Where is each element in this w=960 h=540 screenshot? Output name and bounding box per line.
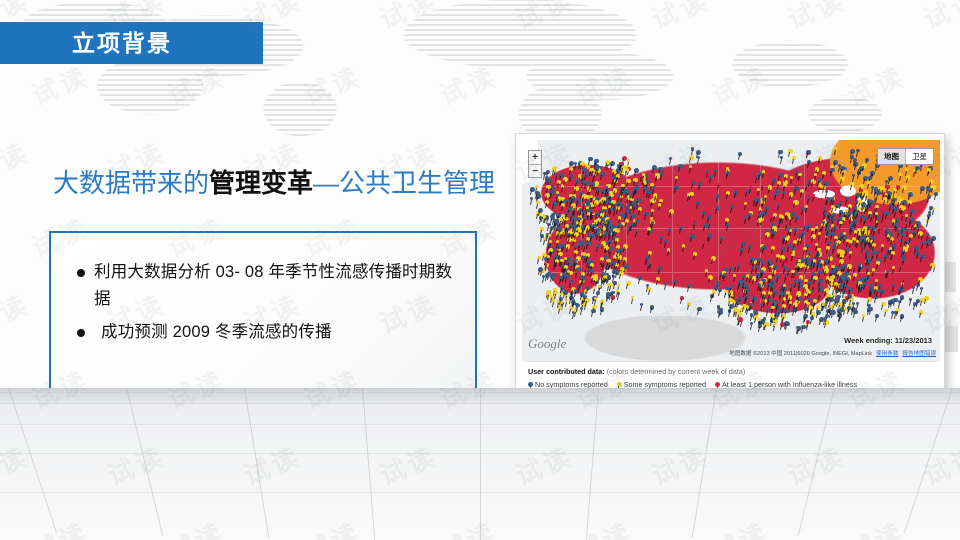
map-pin-icon <box>804 314 808 318</box>
map-pin-icon <box>742 280 746 284</box>
map-pin-icon <box>830 168 835 173</box>
map-pin-icon <box>764 322 769 327</box>
map-pin-icon <box>908 200 912 204</box>
map-pin-icon <box>797 326 802 331</box>
map-pin-icon <box>927 195 931 199</box>
map-pin-icon <box>852 302 856 306</box>
map-pin-icon <box>691 147 694 150</box>
map-pin-icon <box>931 236 936 241</box>
map-pin-icon <box>550 190 554 194</box>
map-pin-icon <box>862 163 867 168</box>
map-pin-icon <box>780 156 783 159</box>
map-pin-icon <box>902 200 907 205</box>
map-pin-icon <box>744 202 747 205</box>
map-pin-icon <box>645 256 649 260</box>
map-pin-icon <box>848 204 852 208</box>
map-pin-icon <box>886 185 890 189</box>
map-pin-icon <box>763 295 767 299</box>
map-pin-icon <box>566 244 571 249</box>
map-pin-icon <box>807 290 812 295</box>
map-pin-icon <box>796 292 801 297</box>
map-pin-icon <box>668 228 671 231</box>
map-pin-icon <box>868 176 873 181</box>
map-pin-icon <box>833 160 838 165</box>
map-pin-icon <box>760 270 764 274</box>
map-pin-icon <box>549 240 552 243</box>
map-pin-icon <box>803 247 806 250</box>
map-pin-icon <box>649 261 653 265</box>
map-pin-icon <box>571 196 575 200</box>
map-pin-icon <box>644 212 649 217</box>
map-pin-icon <box>848 287 853 292</box>
map-pin-icon <box>561 203 565 207</box>
map-pin-icon <box>594 200 599 205</box>
map-pin-icon <box>818 232 821 235</box>
map-pin-icon <box>617 284 620 287</box>
map-pin-icon <box>824 259 828 263</box>
map-pin-icon <box>792 156 796 160</box>
map-pin-icon <box>725 218 729 222</box>
zoom-out-icon[interactable]: − <box>529 165 541 178</box>
map-pin-icon <box>600 217 605 222</box>
map-pin-icon <box>594 159 599 164</box>
map-pin-icon <box>605 160 610 165</box>
map-pin-icon <box>610 161 615 166</box>
map-pin-icon <box>830 232 835 237</box>
bullet-text: 利用大数据分析 03- 08 年季节性流感传播时期数据 <box>94 259 459 312</box>
map-pin-icon <box>847 306 851 310</box>
map-pin-icon <box>897 199 901 203</box>
bullet-dot-icon <box>77 329 85 337</box>
map-pin-icon <box>601 223 604 226</box>
map-pin-icon <box>689 155 694 160</box>
map-pin-icon <box>919 310 924 315</box>
map-pin-icon <box>843 236 846 239</box>
map-pin-icon <box>745 305 749 309</box>
map-pin-icon <box>607 219 611 223</box>
map-pin-icon <box>696 201 700 205</box>
map-pin-icon <box>783 266 787 270</box>
legend-divider <box>526 361 936 362</box>
map-pin-icon <box>918 277 923 282</box>
map-pin-icon <box>826 246 830 250</box>
map-pin-icon <box>758 324 762 328</box>
map-pin-icon <box>782 314 786 318</box>
map-pin-icon <box>578 217 581 220</box>
map-pin-icon <box>788 295 792 299</box>
map-pin-icon <box>547 223 550 226</box>
map-pin-icon <box>894 222 899 227</box>
map-pin-icon <box>852 174 855 177</box>
map-pin-icon <box>594 297 598 301</box>
map-pin-icon <box>569 167 573 171</box>
map-pin-icon <box>844 284 848 288</box>
map-pin-icon <box>894 209 898 213</box>
map-pin-icon <box>794 186 799 191</box>
map-pin-icon <box>634 168 639 173</box>
map-pin-icon <box>807 160 811 164</box>
map-pin-icon <box>825 301 828 304</box>
map-zoom-controls[interactable]: + − <box>528 150 542 178</box>
map-pin-icon <box>540 227 544 231</box>
map-pin-icon <box>916 299 920 303</box>
map-pin-icon <box>600 172 605 177</box>
floor-grid-line <box>362 388 375 540</box>
map-pin-icon <box>588 157 593 162</box>
map-pin-icon <box>617 201 622 206</box>
map-pin-icon <box>876 261 880 265</box>
map-pin-icon <box>528 382 533 387</box>
map-pin-icon <box>554 291 559 296</box>
map-pin-icon <box>559 218 562 221</box>
map-pin-icon <box>634 186 639 191</box>
map-pin-icon <box>875 205 879 209</box>
map-pin-icon <box>867 272 870 275</box>
map-pin-icon <box>553 220 556 223</box>
map-pin-icon <box>744 216 747 219</box>
map-pin-icon <box>857 207 861 211</box>
terms-link[interactable]: 使用条款 <box>876 351 898 357</box>
map-pin-icon <box>715 382 720 387</box>
heading-part-3: —公共卫生管理 <box>313 168 495 198</box>
map-pin-icon <box>912 286 915 289</box>
map-pin-icon <box>853 219 857 223</box>
map-pin-icon <box>552 299 555 302</box>
map-pin-icon <box>537 256 541 260</box>
map-pin-icon <box>920 287 924 291</box>
map-pin-icon <box>850 149 855 154</box>
map-pin-icon <box>761 261 765 265</box>
map-pin-icon <box>638 207 642 211</box>
map-pin-icon <box>573 208 576 211</box>
map-pin-icon <box>749 275 752 278</box>
map-pin-icon <box>782 191 786 195</box>
map-pin-icon <box>734 190 739 195</box>
map-pin-icon <box>892 284 895 287</box>
map-pin-icon <box>744 284 748 288</box>
map-pin-icon <box>847 264 852 269</box>
map-pin-icon <box>560 259 564 263</box>
map-pin-icon <box>609 193 614 198</box>
map-pin-icon <box>745 289 749 293</box>
bullet-box: 利用大数据分析 03- 08 年季节性流感传播时期数据 成功预测 2009 冬季… <box>49 231 477 399</box>
map-pin-icon <box>749 186 754 191</box>
map-pin-icon <box>585 298 590 303</box>
map-pin-icon <box>798 173 802 177</box>
map-pin-icon <box>572 299 575 302</box>
map-pin-icon <box>652 165 657 170</box>
map-pin-icon <box>875 279 879 283</box>
map-pin-icon <box>578 243 582 247</box>
map-pin-icon <box>900 314 905 319</box>
map-pin-icon <box>660 236 663 239</box>
map-pin-icon <box>652 186 655 189</box>
map-pin-icon <box>591 182 595 186</box>
map-pin-icon <box>601 241 606 246</box>
google-flu-trends-map[interactable]: + − 地图 卫星 Week ending: 11/23/2013 Google… <box>522 140 940 361</box>
map-pin-icon <box>536 201 539 204</box>
map-pin-icon <box>903 247 908 252</box>
map-pin-icon <box>636 198 641 203</box>
map-pin-icon <box>635 229 639 233</box>
map-pin-icon <box>892 266 896 270</box>
map-pin-icon <box>926 233 929 236</box>
map-pin-icon <box>706 170 710 174</box>
map-pin-icon <box>798 279 803 284</box>
zoom-in-icon[interactable]: + <box>529 151 541 165</box>
map-pin-icon <box>705 269 709 273</box>
map-pin-icon <box>611 291 615 295</box>
map-pin-icon <box>834 236 837 239</box>
map-pin-icon <box>530 197 533 200</box>
map-pin-icon <box>726 171 731 176</box>
map-pin-icon <box>687 302 691 306</box>
map-pin-icon <box>896 308 900 312</box>
map-pin-icon <box>794 228 797 231</box>
map-pin-icon <box>565 224 569 228</box>
bullet-text: 成功预测 2009 冬季流感的传播 <box>94 319 332 346</box>
map-pin-icon <box>691 181 695 185</box>
map-pin-icon <box>777 203 780 206</box>
map-pin-icon <box>555 173 559 177</box>
map-pin-icon <box>597 188 600 191</box>
map-pin-icon <box>826 219 829 222</box>
heading-part-2: 管理变革 <box>209 168 313 198</box>
map-pin-icon <box>871 253 874 256</box>
map-pin-icon <box>539 216 542 219</box>
page-title: 大数据带来的管理变革—公共卫生管理 <box>53 170 495 196</box>
map-pin-icon <box>581 276 586 281</box>
map-pin-icon <box>586 200 591 205</box>
map-pin-icon <box>878 226 883 231</box>
map-pin-icon <box>659 199 663 203</box>
map-pin-icon <box>835 203 840 208</box>
map-pin-icon <box>772 300 775 303</box>
map-pin-icon <box>638 276 643 281</box>
map-pin-icon <box>565 274 570 279</box>
map-pin-icon <box>834 147 838 151</box>
map-pin-icon <box>740 248 744 252</box>
map-pin-icon <box>914 246 918 250</box>
map-pin-icon <box>708 275 713 280</box>
map-pin-icon <box>646 179 651 184</box>
map-pin-icon <box>633 178 638 183</box>
map-pin-icon <box>785 237 789 241</box>
map-pin-icon <box>606 294 611 299</box>
map-pin-icon <box>584 222 588 226</box>
map-pin-icon <box>586 286 590 290</box>
map-pin-icon <box>887 191 891 195</box>
map-pin-icon <box>693 218 696 221</box>
map-pin-icon <box>651 209 654 212</box>
map-pin-icon <box>569 280 572 283</box>
map-pin-icon <box>867 307 872 312</box>
map-pin-icon <box>906 229 910 233</box>
map-pin-icon <box>927 214 930 217</box>
slide-title-text: 立项背景 <box>72 32 172 55</box>
map-pin-icon <box>669 157 672 160</box>
map-pin-icon <box>626 190 631 195</box>
map-pin-icon <box>558 252 562 256</box>
map-pin-icon <box>818 292 822 296</box>
map-pin-icon <box>793 200 798 205</box>
map-pin-icon <box>843 232 846 235</box>
map-pin-icon <box>698 182 702 186</box>
map-pin-icon <box>766 308 770 312</box>
map-pin-icon <box>702 211 706 215</box>
map-pin-icon <box>869 200 874 205</box>
map-pin-icon <box>772 226 777 231</box>
decorative-floor <box>0 388 960 540</box>
attribution-text: 地图数据 ©2013 中国 2011|6020 Google, INEGI, M… <box>729 351 872 357</box>
map-pin-icon <box>748 213 753 218</box>
map-pin-icon <box>807 196 811 200</box>
map-pin-icon <box>617 292 620 295</box>
heading-part-1: 大数据带来的 <box>53 168 209 198</box>
week-ending-label: Week ending: 11/23/2013 <box>844 336 932 345</box>
map-pin-icon <box>771 246 775 250</box>
map-pin-icon <box>892 244 897 249</box>
map-pin-icon <box>584 181 588 185</box>
map-pin-icon <box>591 309 595 313</box>
map-pin-icon <box>806 261 811 266</box>
map-pin-icon <box>905 168 908 171</box>
map-pin-icon <box>762 279 766 283</box>
map-pin-icon <box>878 284 882 288</box>
map-pin-icon <box>916 251 920 255</box>
map-pin-icon <box>889 233 892 236</box>
map-pin-icon <box>890 299 895 304</box>
map-pin-icon <box>784 309 789 314</box>
map-pin-icon <box>884 309 888 313</box>
map-pin-icon <box>708 234 712 238</box>
map-pin-icon <box>582 194 586 198</box>
map-pin-icon <box>718 310 723 315</box>
map-pin-icon <box>920 186 925 191</box>
map-pin-icon <box>778 150 782 154</box>
map-pin-icon <box>673 280 677 284</box>
map-pin-icon <box>755 265 759 269</box>
map-pin-icon <box>817 259 821 263</box>
map-pin-icon <box>847 212 852 217</box>
map-pin-icon <box>605 186 608 189</box>
map-pin-icon <box>829 278 834 283</box>
map-pin-icon <box>808 251 811 254</box>
map-pin-icon <box>772 178 776 182</box>
map-pin-icon <box>568 230 572 234</box>
map-pin-icon <box>574 250 578 254</box>
map-pin-icon <box>613 188 617 192</box>
map-pin-icon <box>733 274 737 278</box>
map-pin-icon <box>604 209 607 212</box>
map-pin-icon <box>654 193 657 196</box>
map-type-toggle[interactable]: 地图 卫星 <box>877 148 934 165</box>
map-pin-icon <box>682 244 685 247</box>
map-pin-icon <box>850 182 855 187</box>
map-pin-icon <box>660 172 664 176</box>
map-pin-icon <box>874 286 878 290</box>
map-pin-icon <box>872 268 875 271</box>
map-pin-icon <box>773 290 778 295</box>
map-pin-icon <box>664 240 668 244</box>
map-pin-icon <box>750 322 753 325</box>
map-pin-icon <box>794 280 798 284</box>
map-pin-icon <box>546 170 550 174</box>
map-pin-icon <box>574 289 579 294</box>
map-pin-icon <box>891 251 895 255</box>
map-pin-icon <box>611 200 616 205</box>
map-pin-icon <box>885 211 890 216</box>
map-pin-icon <box>814 173 817 176</box>
map-pin-icon <box>901 233 905 237</box>
map-pin-icon <box>650 305 655 310</box>
map-pin-icon <box>547 292 551 296</box>
map-pin-icon <box>776 275 780 279</box>
map-pin-icon <box>680 296 684 300</box>
map-pin-icon <box>679 226 683 230</box>
report-error-link[interactable]: 报告地图错误 <box>902 351 936 357</box>
map-pin-icon <box>790 176 794 180</box>
map-pin-icon <box>785 255 790 260</box>
map-pin-icon <box>818 279 823 284</box>
map-pin-icon <box>813 276 818 281</box>
map-pin-icon <box>831 265 835 269</box>
slide-canvas: 立项背景 大数据带来的管理变革—公共卫生管理 利用大数据分析 03- 08 年季… <box>0 0 960 540</box>
map-pin-icon <box>723 273 727 277</box>
satellite-button[interactable]: 卫星 <box>906 149 933 164</box>
map-pin-icon <box>816 305 820 309</box>
map-pin-icon <box>773 323 776 326</box>
map-pin-icon <box>709 175 713 179</box>
map-pin-icon <box>584 172 588 176</box>
floor-grid-line <box>798 388 835 536</box>
map-pin-icon <box>771 306 774 309</box>
map-pin-icon <box>815 243 818 246</box>
map-pin-icon <box>543 172 546 175</box>
map-pin-icon <box>540 234 544 238</box>
map-pin-icon <box>893 198 897 202</box>
map-pin-icon <box>556 240 559 243</box>
map-pin-icon <box>626 179 631 184</box>
map-pin-icon <box>812 284 815 287</box>
map-pin-icon <box>575 179 580 184</box>
map-pin-icon <box>908 192 913 197</box>
user-contributed-note: (colors determined by current week of da… <box>607 367 746 376</box>
map-pin-icon <box>853 265 857 269</box>
map-pin-icon <box>823 181 828 186</box>
map-pin-icon <box>730 205 734 209</box>
map-pin-icon <box>596 244 600 248</box>
map-pin-icon <box>877 217 881 221</box>
list-item: 利用大数据分析 03- 08 年季节性流感传播时期数据 <box>77 259 459 312</box>
map-button[interactable]: 地图 <box>878 149 906 164</box>
floor-grid-line <box>904 388 953 532</box>
map-pin-icon <box>823 207 826 210</box>
map-pin-icon <box>787 268 791 272</box>
map-pin-icon <box>613 228 617 232</box>
map-pin-icon <box>810 316 814 320</box>
map-pin-icon <box>863 218 866 221</box>
map-pin-icon <box>726 223 729 226</box>
map-pin-icon <box>593 286 596 289</box>
map-pin-icon <box>866 266 870 270</box>
map-pin-icon <box>781 247 786 252</box>
map-pin-icon <box>626 281 631 286</box>
map-pin-icon <box>880 289 885 294</box>
map-pin-icon <box>826 228 830 232</box>
map-pin-icon <box>862 314 865 317</box>
map-pin-icon <box>885 228 890 233</box>
